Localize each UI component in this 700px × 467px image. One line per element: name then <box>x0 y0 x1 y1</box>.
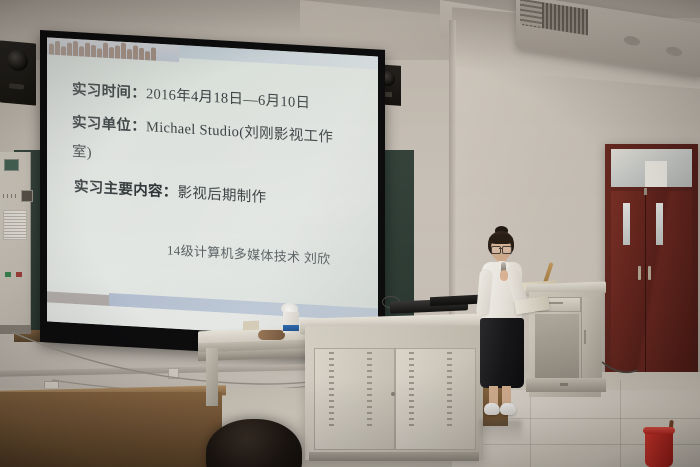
door-handle[interactable] <box>648 266 651 280</box>
speaker-driver-icon <box>7 49 28 72</box>
slide-label-company: 实习单位： <box>72 115 146 135</box>
tissue-box[interactable] <box>283 312 299 333</box>
tissue-box-label <box>283 325 299 331</box>
control-display <box>4 159 19 171</box>
cabinet-lock-icon[interactable] <box>391 392 395 396</box>
slide-label-content: 实习主要内容： <box>74 179 178 201</box>
transom-bright-pane <box>645 161 667 187</box>
glasses-bridge <box>499 248 502 249</box>
black-trousers <box>480 318 524 388</box>
slide-line-time: 实习时间：2016年4月18日—6月10日 <box>72 78 310 113</box>
desk-paper[interactable] <box>243 321 259 331</box>
slide-line-company: 实习单位：Michael Studio(刘刚影视工作 <box>72 111 333 147</box>
power-on-switch[interactable] <box>5 272 11 277</box>
drawer-pull-handle[interactable] <box>549 302 563 304</box>
desk-object[interactable] <box>258 330 285 340</box>
lens-right <box>502 246 512 254</box>
projection-screen: 实习时间：2016年4月18日—6月10日 实习单位：Michael Studi… <box>40 30 385 362</box>
base-drawer-pull[interactable] <box>560 383 568 386</box>
cabinet-door-right[interactable] <box>395 348 476 450</box>
door-handle[interactable] <box>638 266 641 280</box>
wall-speaker-left <box>0 40 36 105</box>
cabinet-vent <box>409 352 414 426</box>
av-control-cabinet[interactable] <box>0 152 31 327</box>
bucket-rim <box>643 427 675 434</box>
door-transom-window <box>611 149 692 187</box>
cabinet-door-left[interactable] <box>314 348 395 450</box>
cabinet-vent <box>367 352 372 426</box>
instruction-label <box>3 210 27 240</box>
cabinet-pull-handle[interactable] <box>584 330 586 344</box>
red-bucket[interactable] <box>645 427 673 467</box>
slide-signature: 14级计算机多媒体技术 刘欣 <box>167 239 330 267</box>
slide-line-company-cont: 室) <box>72 140 92 162</box>
presenter <box>471 226 537 426</box>
slide-surface: 实习时间：2016年4月18日—6月10日 实习单位：Michael Studi… <box>47 37 378 340</box>
control-button-row[interactable] <box>3 194 19 198</box>
door-latch[interactable] <box>644 188 647 195</box>
podium-kneehole <box>535 314 579 386</box>
slide-value-company: Michael Studio(刘刚影视工作 <box>146 119 333 146</box>
floor-cable <box>600 360 640 378</box>
shoe-right <box>500 403 516 415</box>
classroom-photo: 实习时间：2016年4月18日—6月10日 实习单位：Michael Studi… <box>0 0 700 467</box>
eyeglasses-icon <box>491 246 511 252</box>
side-bench-leg <box>206 348 218 406</box>
door-vision-panel <box>656 203 663 245</box>
hair-fringe <box>489 234 513 244</box>
shoe-left <box>484 403 500 415</box>
power-off-switch[interactable] <box>16 272 22 277</box>
wooden-platform <box>0 392 222 467</box>
console-plinth <box>309 452 479 461</box>
slide-line-content: 实习主要内容：影视后期制作 <box>74 175 266 207</box>
ac-control-panel <box>520 0 542 27</box>
hand-holding-microphone <box>500 270 508 281</box>
teacher-console-cabinet[interactable] <box>305 326 483 460</box>
slide-value-content: 影视后期制作 <box>178 185 267 206</box>
cabinet-vent <box>329 352 334 426</box>
slide-value-time: 2016年4月18日—6月10日 <box>146 86 310 111</box>
door-vision-panel <box>623 203 630 245</box>
slide-label-time: 实习时间： <box>72 82 146 102</box>
cabinet-vent <box>447 352 452 426</box>
door-center-seam <box>645 191 646 395</box>
speaker-port <box>9 83 24 89</box>
ac-mount-bracket <box>666 46 682 58</box>
control-meter <box>21 190 33 202</box>
slide-value-company-cont: 室) <box>72 144 92 161</box>
ac-mount-bracket <box>624 35 640 47</box>
